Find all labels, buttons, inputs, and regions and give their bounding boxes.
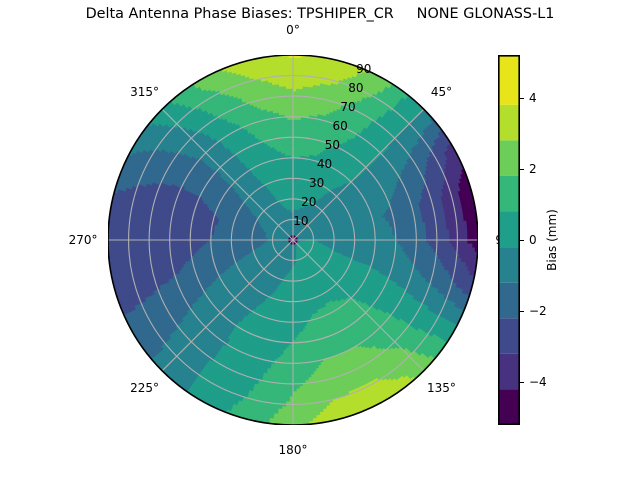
colorbar-tick-mark (520, 98, 524, 99)
colorbar-tick-label: −4 (529, 375, 547, 389)
figure-canvas: Delta Antenna Phase Biases: TPSHIPER_CR … (0, 0, 640, 480)
polar-plot: 0°45°90135°180°225°270°315°1020304050607… (108, 55, 478, 425)
radial-tick-label-50: 50 (325, 138, 340, 152)
angular-tick-label-315: 315° (130, 85, 159, 99)
polar-gridlines (108, 55, 478, 425)
colorbar-tick-mark (520, 240, 524, 241)
colorbar-tick-label: −2 (529, 304, 547, 318)
radial-tick-label-10: 10 (293, 214, 308, 228)
angular-tick-label-0: 0° (286, 23, 300, 37)
angular-tick-label-225: 225° (130, 381, 159, 395)
radial-tick-label-60: 60 (333, 119, 348, 133)
radial-tick-label-70: 70 (340, 100, 355, 114)
colorbar-tick-label: 2 (529, 162, 537, 176)
polar-contour-svg (108, 55, 478, 425)
angular-tick-label-135: 135° (427, 381, 456, 395)
colorbar-label: Bias (mm) (545, 209, 559, 271)
colorbar-tick-mark (520, 382, 524, 383)
angular-tick-label-180: 180° (279, 443, 308, 457)
radial-tick-label-90: 90 (356, 62, 371, 76)
radial-tick-label-80: 80 (348, 81, 363, 95)
colorbar-tick-label: 0 (529, 233, 537, 247)
radial-tick-label-30: 30 (309, 176, 324, 190)
colorbar-tick-mark (520, 311, 524, 312)
radial-tick-label-40: 40 (317, 157, 332, 171)
colorbar-tick-label: 4 (529, 91, 537, 105)
radial-tick-label-20: 20 (301, 195, 316, 209)
angular-tick-label-45: 45° (431, 85, 452, 99)
angular-tick-label-270: 270° (69, 233, 98, 247)
colorbar-tick-mark (520, 169, 524, 170)
